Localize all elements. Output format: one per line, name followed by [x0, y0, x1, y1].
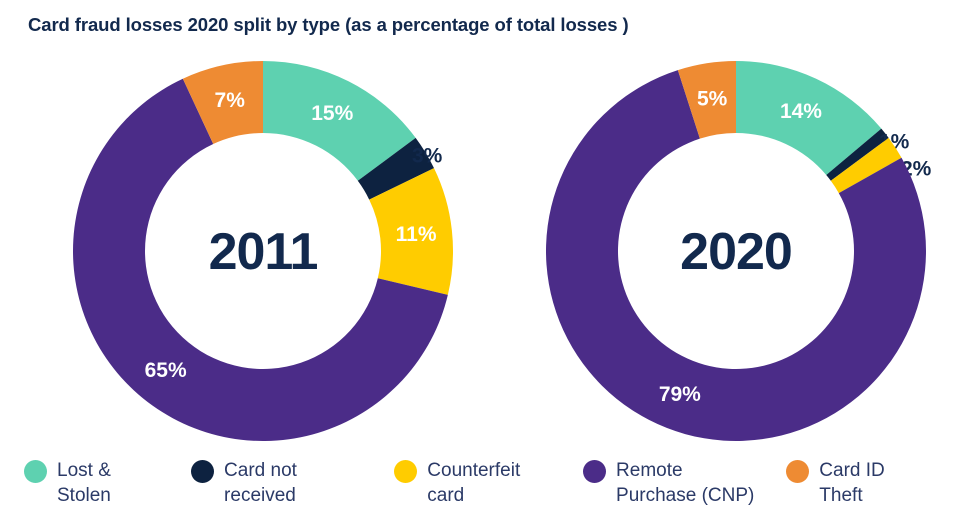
donut-chart-2020: 14%1%2%79%5% 2020 [541, 56, 931, 446]
legend-dot-icon [191, 460, 214, 483]
donut-chart-2011-svg: 15%3%11%65%7% [68, 56, 458, 446]
donut-slice-label: 65% [145, 359, 187, 382]
donut-slice-label: 5% [697, 87, 728, 110]
donut-slice-label: 79% [659, 383, 701, 406]
legend-item-label: Card not received [224, 458, 370, 508]
legend-item-label: Counterfeit card [427, 458, 559, 508]
legend-item-label: Remote Purchase (CNP) [616, 458, 762, 508]
legend-item-card-not-received[interactable]: Card not received [191, 458, 370, 508]
legend-item-label: Card ID Theft [819, 458, 930, 508]
donut-chart-2011: 15%3%11%65%7% 2011 [68, 56, 458, 446]
donut-slice-label: 3% [412, 145, 443, 168]
donut-slice-label: 11% [396, 223, 437, 246]
legend-item-lost-and-stolen[interactable]: Lost & Stolen [24, 458, 167, 508]
donut-chart-2020-svg: 14%1%2%79%5% [541, 56, 931, 446]
page-title: Card fraud losses 2020 split by type (as… [28, 14, 629, 36]
legend-dot-icon [786, 460, 809, 483]
legend-dot-icon [24, 460, 47, 483]
legend-item-counterfeit-card[interactable]: Counterfeit card [394, 458, 559, 508]
legend-item-label: Lost & Stolen [57, 458, 167, 508]
chart-legend: Lost & Stolen Card not received Counterf… [24, 458, 954, 508]
legend-dot-icon [394, 460, 417, 483]
donut-slice-label: 15% [311, 102, 353, 125]
legend-item-remote-purchase[interactable]: Remote Purchase (CNP) [583, 458, 762, 508]
donut-slice-label: 14% [780, 100, 822, 123]
legend-dot-icon [583, 460, 606, 483]
legend-item-card-id-theft[interactable]: Card ID Theft [786, 458, 930, 508]
donut-slice-label: 7% [215, 89, 246, 112]
